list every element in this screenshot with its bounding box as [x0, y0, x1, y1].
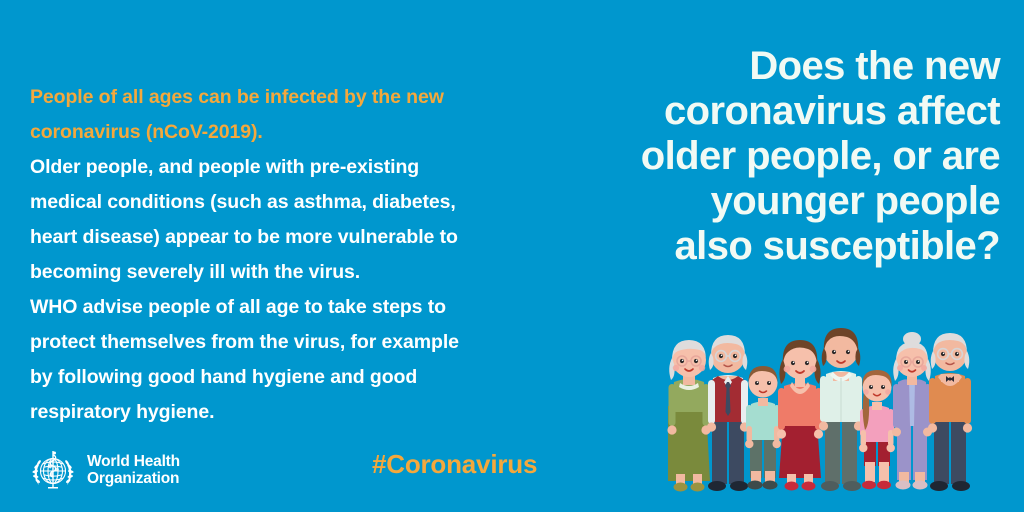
headline-line: also susceptible? — [530, 224, 1000, 269]
body-copy-line: Older people, and people with pre-existi… — [30, 150, 560, 185]
body-copy-line: becoming severely ill with the virus. — [30, 255, 560, 290]
body-copy-line: by following good hand hygiene and good — [30, 360, 560, 395]
headline-line: Does the new — [530, 44, 1000, 89]
who-logo: World Health Organization — [28, 445, 180, 495]
body-copy-line: People of all ages can be infected by th… — [30, 80, 560, 115]
group-of-people-all-ages-illustration — [666, 326, 1006, 494]
figure-elderly-woman-olive — [667, 340, 710, 492]
who-wordmark-line1: World Health — [87, 453, 180, 470]
who-wordmark-line2: Organization — [87, 470, 179, 487]
body-copy-line: coronavirus (nCoV-2019). — [30, 115, 560, 150]
body-copy-line: protect themselves from the virus, for e… — [30, 325, 560, 360]
headline-block: Does the new coronavirus affect older pe… — [530, 44, 1000, 269]
figure-elderly-woman-purple — [892, 332, 932, 490]
figure-man-mint-shirt — [819, 328, 863, 491]
body-copy-line: respiratory hygiene. — [30, 395, 560, 430]
who-emblem-icon — [28, 445, 78, 495]
poster-canvas: People of all ages can be infected by th… — [0, 0, 1024, 512]
headline-line: younger people — [530, 179, 1000, 224]
figure-boy-mint-shirt — [745, 366, 781, 490]
headline-line: coronavirus affect — [530, 89, 1000, 134]
who-wordmark: World Health Organization — [87, 453, 180, 488]
figure-elderly-man-red-vest — [707, 335, 749, 491]
figure-girl-pink-top — [859, 370, 895, 489]
hashtag-label: #Coronavirus — [372, 449, 537, 480]
body-copy-block: People of all ages can be infected by th… — [30, 80, 560, 430]
body-copy-line: heart disease) appear to be more vulnera… — [30, 220, 560, 255]
body-copy-line: medical conditions (such as asthma, diab… — [30, 185, 560, 220]
headline-line: older people, or are — [530, 134, 1000, 179]
figure-woman-coral-top — [777, 340, 823, 491]
body-copy-line: WHO advise people of all age to take ste… — [30, 290, 560, 325]
figure-elderly-man-orange — [928, 333, 972, 491]
